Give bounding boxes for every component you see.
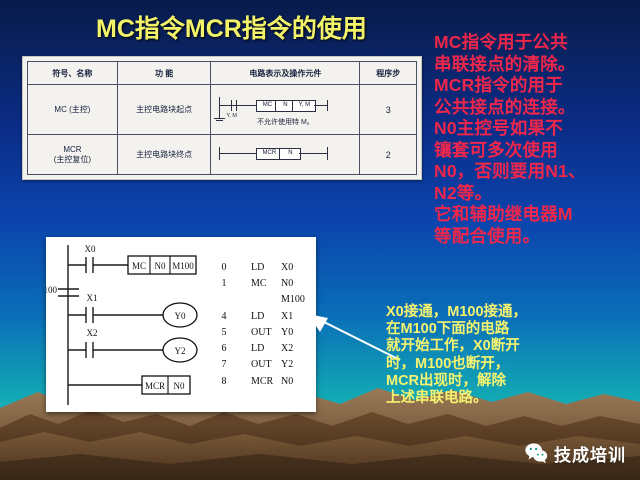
red-note-line: N2等。	[434, 183, 640, 205]
prog-op: LD	[251, 262, 264, 273]
th-circuit: 电路表示及操作元件	[211, 62, 360, 85]
table-row: MC (主控) 主控电路块起点	[28, 85, 417, 135]
red-note-line: 等配合使用。	[434, 226, 640, 248]
cell-function-mc: 主控电路块起点	[117, 85, 211, 135]
table-header-row: 符号、名称 功 能 电路表示及操作元件 程序步	[28, 62, 417, 85]
prog-operand: X2	[281, 343, 293, 354]
ladder-coil-y2: Y2	[163, 338, 197, 362]
ladder-box-mc: MC N0 M100	[128, 256, 196, 274]
red-note-line: MC指令用于公共	[434, 32, 640, 54]
svg-text:N0: N0	[174, 381, 185, 391]
ladder-diagram-card: X0 X1 X2 M100 MC N0 M100 Y0 Y2	[46, 237, 316, 412]
prog-operand: X1	[281, 311, 293, 322]
svg-text:N0: N0	[155, 261, 166, 271]
prog-op: MC	[251, 278, 267, 289]
mini-note-mc: 不允许使用特 M。	[257, 117, 314, 127]
mini-box-mc-2: Y, M	[292, 100, 316, 112]
prog-operand: X0	[281, 262, 293, 273]
red-note: MC指令用于公共 串联接点的清除。 MCR指令的用于 公共接点的连接。 N0主控…	[434, 32, 640, 247]
svg-text:M100: M100	[172, 261, 194, 271]
cell-circuit-mcr: MCR N	[211, 135, 360, 175]
yellow-note-line: 上述串联电路。	[386, 390, 636, 407]
red-note-line: 串联接点的清除。	[434, 54, 640, 76]
red-note-line: 镶套可多次使用	[434, 140, 640, 162]
cell-steps-mc: 3	[360, 85, 417, 135]
prog-op: MCR	[251, 376, 274, 387]
svg-text:MCR: MCR	[145, 381, 165, 391]
prog-no: 7	[222, 359, 227, 370]
spec-table-card: 符号、名称 功 能 电路表示及操作元件 程序步 MC (主控) 主控电路块起点	[22, 56, 422, 180]
ladder-box-mcr: MCR N0	[142, 376, 190, 394]
red-note-line: N0，否则要用N1、	[434, 161, 640, 183]
svg-text:MC: MC	[132, 261, 146, 271]
prog-operand: N0	[281, 278, 293, 289]
yellow-note-line: 就开始工作，X0断开	[386, 338, 636, 355]
red-note-line: N0主控号如果不	[434, 118, 640, 140]
prog-operand: N0	[281, 376, 293, 387]
slide-canvas: MC指令MCR指令的使用 符号、名称 功 能 电路表示及操作元件 程序步 MC …	[0, 0, 640, 480]
prog-op: LD	[251, 343, 264, 354]
prog-no: 4	[222, 311, 227, 322]
mini-contact-label-mc: Y, M	[226, 113, 237, 119]
cell-name-mcr-line1: MCR	[30, 145, 115, 155]
cell-name-mcr: MCR (主控复位)	[28, 135, 118, 175]
svg-text:Y2: Y2	[175, 346, 186, 356]
prog-no: 1	[222, 278, 227, 289]
spec-table: 符号、名称 功 能 电路表示及操作元件 程序步 MC (主控) 主控电路块起点	[27, 61, 417, 175]
red-note-line: 它和辅助继电器M	[434, 204, 640, 226]
mini-box-mcr-1: N	[279, 148, 301, 160]
brand-watermark: 技成培训	[524, 440, 626, 466]
brand-name: 技成培训	[554, 441, 626, 466]
page-title: MC指令MCR指令的使用	[96, 12, 376, 46]
svg-text:Y0: Y0	[175, 311, 186, 321]
cell-steps-mcr: 2	[360, 135, 417, 175]
ladder-diagram: X0 X1 X2 M100 MC N0 M100 Y0 Y2	[46, 237, 316, 412]
prog-operand: Y2	[281, 359, 293, 370]
prog-no: 5	[222, 327, 227, 338]
yellow-note: X0接通，M100接通， 在M100下面的电路 就开始工作，X0断开 时，M10…	[386, 304, 636, 407]
cell-circuit-mc: Y, M MC N Y, M 不允许使用特 M。	[211, 85, 360, 135]
prog-no: 0	[222, 262, 227, 273]
yellow-note-line: X0接通，M100接通，	[386, 304, 636, 321]
table-row: MCR (主控复位) 主控电路块终点 MCR N	[28, 135, 417, 175]
prog-no: 8	[222, 376, 227, 387]
ladder-contact-label-x1: X1	[87, 293, 98, 303]
yellow-note-line: MCR出现时，解除	[386, 373, 636, 390]
cell-name-mc: MC (主控)	[28, 85, 118, 135]
prog-no: 6	[222, 343, 227, 354]
mini-ladder-mc: Y, M MC N Y, M 不允许使用特 M。	[213, 93, 357, 127]
mini-ladder-mcr: MCR N	[213, 142, 357, 168]
prog-operand: M100	[281, 294, 305, 305]
ladder-contact-label-x2: X2	[87, 328, 98, 338]
program-list: 0 LD X0 1 MC N0 M100 4 LD X1 5 OUT Y0 6 …	[222, 262, 305, 387]
ladder-branch-label-m100: M100	[46, 285, 57, 295]
yellow-note-line: 时，M100也断开，	[386, 356, 636, 373]
yellow-note-line: 在M100下面的电路	[386, 321, 636, 338]
prog-op: LD	[251, 311, 264, 322]
wechat-icon	[524, 441, 548, 465]
prog-operand: Y0	[281, 327, 293, 338]
prog-op: OUT	[251, 359, 272, 370]
ladder-coil-y0: Y0	[163, 303, 197, 327]
prog-op: OUT	[251, 327, 272, 338]
th-steps: 程序步	[360, 62, 417, 85]
red-note-line: 公共接点的连接。	[434, 97, 640, 119]
th-function: 功 能	[117, 62, 211, 85]
red-note-line: MCR指令的用于	[434, 75, 640, 97]
cell-function-mcr: 主控电路块终点	[117, 135, 211, 175]
cell-name-mcr-line2: (主控复位)	[30, 155, 115, 165]
th-symbol-name: 符号、名称	[28, 62, 118, 85]
ladder-contact-label-x0: X0	[85, 244, 96, 254]
